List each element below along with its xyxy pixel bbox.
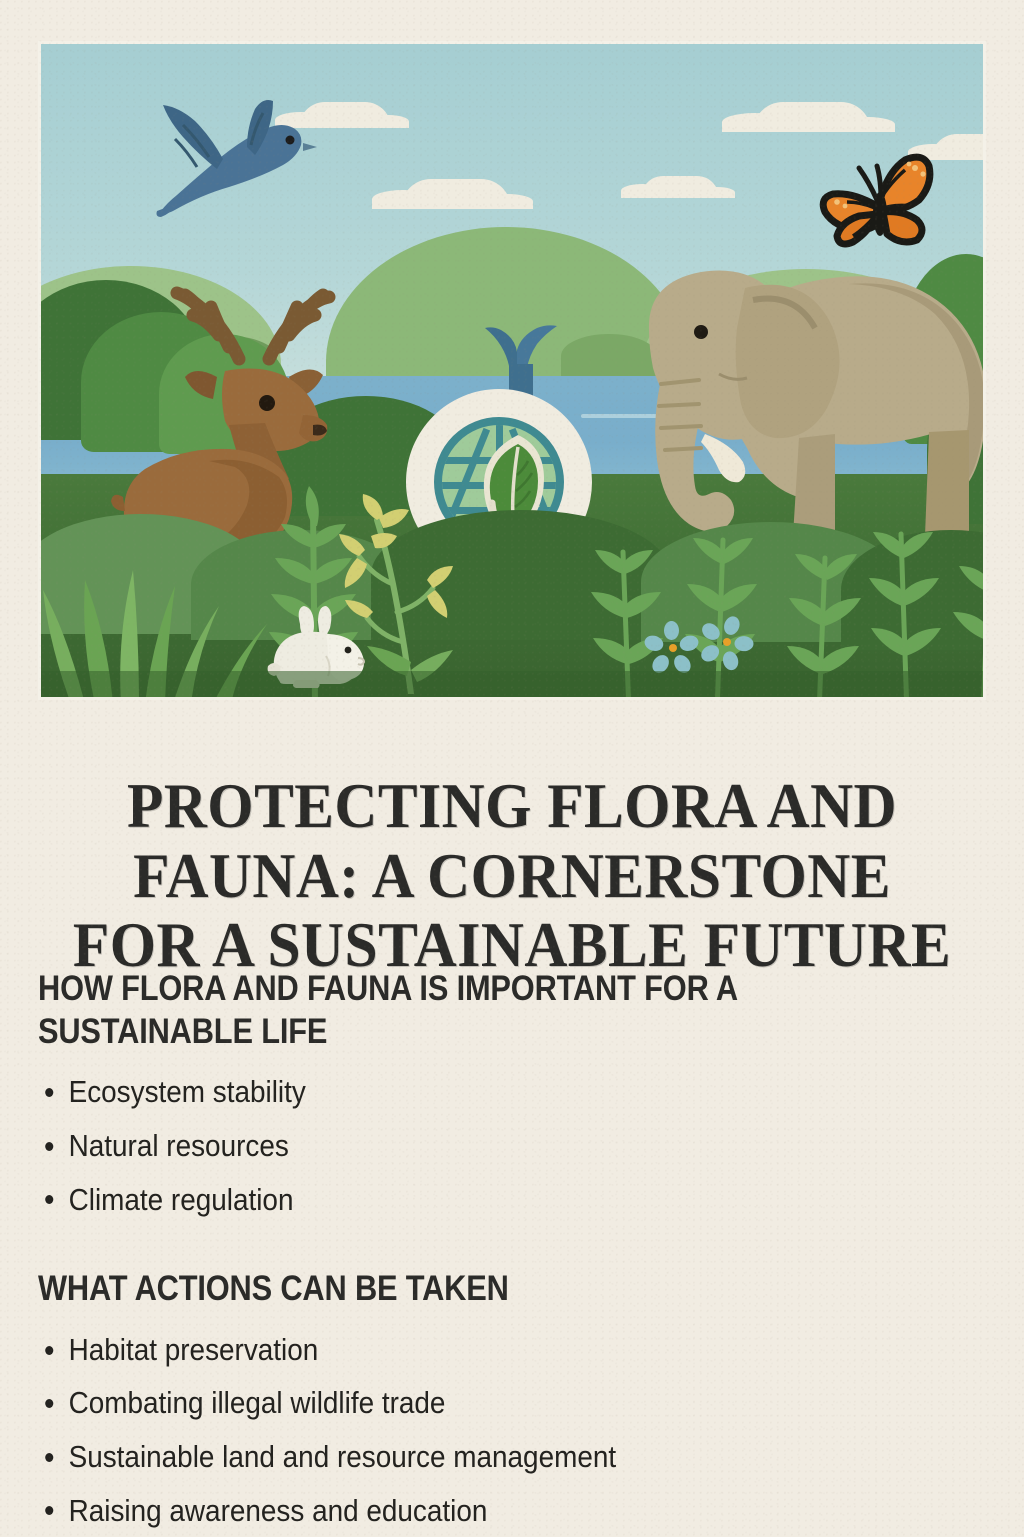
bullet-dot-icon	[45, 1453, 53, 1462]
section-importance: HOW FLORA AND FAUNA IS IMPORTANT FOR A S…	[38, 968, 988, 1226]
foreground-strip	[41, 671, 983, 697]
hero-illustration	[38, 41, 986, 700]
list-item-label: Raising awareness and education	[69, 1493, 488, 1528]
list-item: Combating illegal wildlife trade	[38, 1376, 893, 1430]
section-heading: HOW FLORA AND FAUNA IS IMPORTANT FOR A S…	[38, 968, 874, 1053]
list-item-label: Climate regulation	[69, 1182, 294, 1217]
list-item-label: Ecosystem stability	[69, 1074, 306, 1109]
bullet-dot-icon	[45, 1399, 53, 1408]
list-item: Ecosystem stability	[38, 1065, 893, 1119]
cloud-icon	[641, 176, 719, 198]
list-item: Natural resources	[38, 1119, 893, 1173]
section-actions: WHAT ACTIONS CAN BE TAKEN Habitat preser…	[38, 1268, 988, 1537]
infographic-poster: PROTECTING FLORA AND FAUNA: A CORNERSTON…	[0, 0, 1024, 1536]
bullet-dot-icon	[45, 1506, 53, 1515]
list-item-label: Sustainable land and resource management	[69, 1439, 617, 1474]
list-item: Climate regulation	[38, 1173, 893, 1227]
bullet-dot-icon	[45, 1346, 53, 1355]
list-item: Sustainable land and resource management	[38, 1430, 893, 1484]
bullet-list-actions: Habitat preservation Combating illegal w…	[38, 1323, 988, 1537]
cloud-icon	[753, 102, 871, 132]
list-item-label: Habitat preservation	[69, 1332, 319, 1367]
nature-scene	[41, 44, 983, 697]
bullet-dot-icon	[45, 1195, 53, 1204]
whale-tail-icon	[471, 314, 581, 399]
list-item: Raising awareness and education	[38, 1484, 893, 1537]
bird-icon	[151, 99, 321, 229]
cloud-icon	[401, 179, 511, 209]
list-item-label: Natural resources	[69, 1128, 289, 1163]
bullet-dot-icon	[45, 1088, 53, 1097]
bullet-list-importance: Ecosystem stability Natural resources Cl…	[38, 1065, 988, 1226]
blue-flower-icon	[709, 624, 743, 658]
bullet-dot-icon	[45, 1142, 53, 1151]
blue-flower-icon	[655, 630, 691, 666]
page-title: PROTECTING FLORA AND FAUNA: A CORNERSTON…	[71, 771, 953, 980]
list-item-label: Combating illegal wildlife trade	[69, 1385, 446, 1420]
section-heading: WHAT ACTIONS CAN BE TAKEN	[38, 1268, 874, 1311]
butterfly-icon	[819, 152, 939, 257]
list-item: Habitat preservation	[38, 1323, 893, 1377]
